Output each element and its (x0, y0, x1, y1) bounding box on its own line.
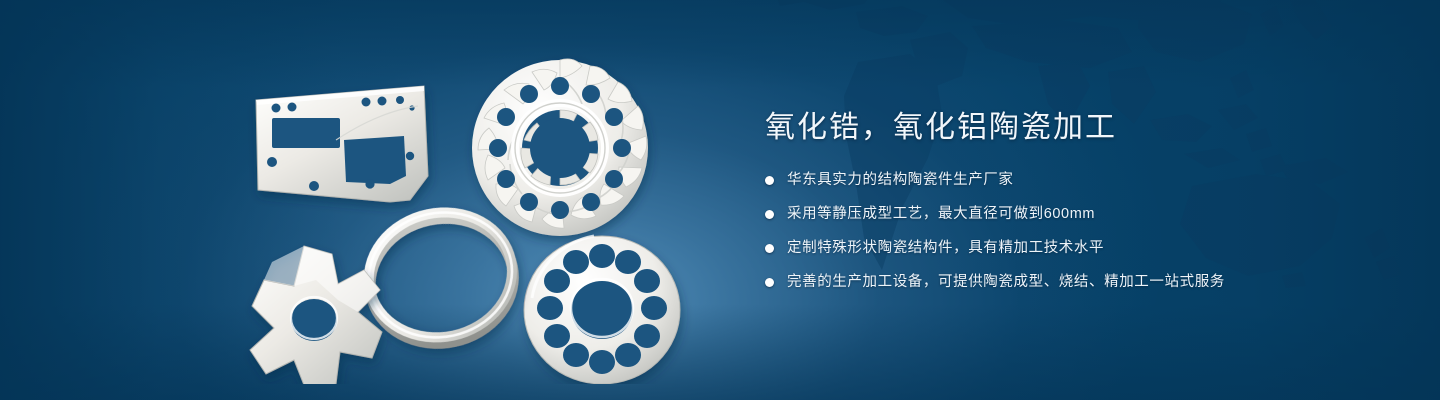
list-item: 定制特殊形状陶瓷结构件，具有精加工技术水平 (765, 238, 1365, 258)
feature-list: 华东具实力的结构陶瓷件生产厂家 采用等静压成型工艺，最大直径可做到600mm 定… (765, 170, 1365, 292)
ceramic-cross-blade (250, 246, 382, 384)
bullet-dot-icon (765, 278, 774, 287)
bullet-dot-icon (765, 176, 774, 185)
ceramic-perforated-ring (524, 236, 680, 384)
ceramic-hero-banner: 氧化锆，氧化铝陶瓷加工 华东具实力的结构陶瓷件生产厂家 采用等静压成型工艺，最大… (0, 0, 1440, 400)
list-item-label: 完善的生产加工设备，可提供陶瓷成型、烧结、精加工一站式服务 (787, 272, 1225, 292)
list-item-label: 定制特殊形状陶瓷结构件，具有精加工技术水平 (787, 238, 1104, 258)
page-title: 氧化锆，氧化铝陶瓷加工 (765, 108, 1365, 148)
bullet-dot-icon (765, 244, 774, 253)
ceramic-impeller-disc (472, 59, 648, 236)
list-item: 完善的生产加工设备，可提供陶瓷成型、烧结、精加工一站式服务 (765, 272, 1365, 292)
list-item-label: 采用等静压成型工艺，最大直径可做到600mm (787, 204, 1095, 224)
ceramic-rectangular-plate (256, 86, 428, 202)
ceramic-products-image (228, 44, 728, 384)
list-item-label: 华东具实力的结构陶瓷件生产厂家 (787, 170, 1014, 190)
bullet-dot-icon (765, 210, 774, 219)
list-item: 华东具实力的结构陶瓷件生产厂家 (765, 170, 1365, 190)
list-item: 采用等静压成型工艺，最大直径可做到600mm (765, 204, 1365, 224)
banner-copy: 氧化锆，氧化铝陶瓷加工 华东具实力的结构陶瓷件生产厂家 采用等静压成型工艺，最大… (765, 108, 1365, 292)
ceramic-ring (357, 199, 525, 356)
